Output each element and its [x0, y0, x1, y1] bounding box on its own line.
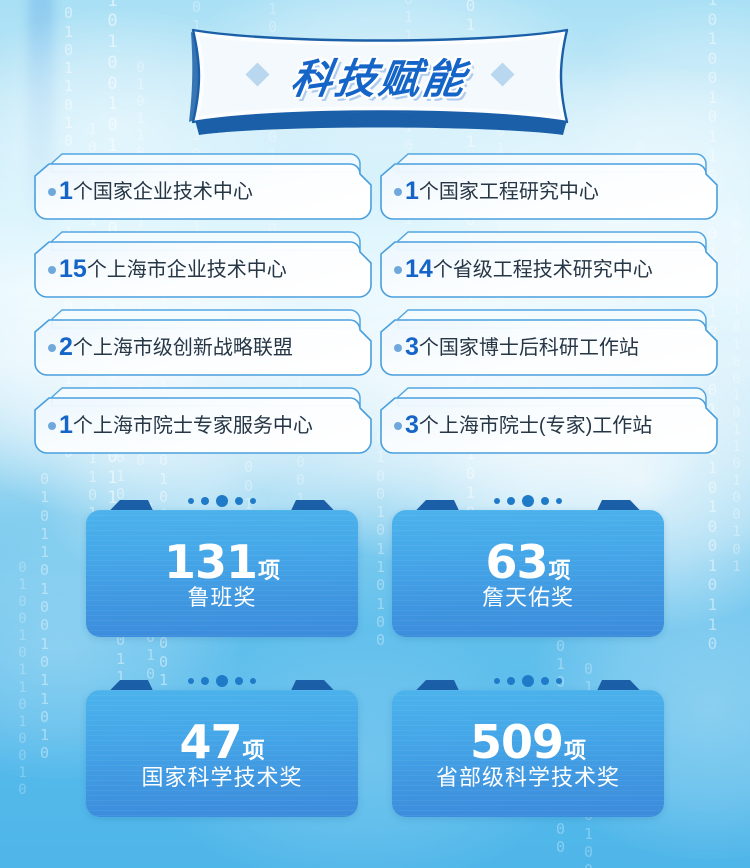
card-content: 15个上海市企业技术中心 [34, 242, 372, 298]
bullet-icon [394, 266, 402, 274]
stat-value-line: 47项 [179, 719, 264, 765]
diamond-icon-left [245, 62, 269, 86]
stat-value: 63 [485, 539, 547, 585]
bullet-icon [394, 188, 402, 196]
item-label: 个国家博士后科研工作站 [419, 338, 639, 358]
item-count: 14 [405, 257, 433, 282]
dot-icon [522, 495, 534, 507]
capability-card[interactable]: 1个国家企业技术中心 [34, 152, 372, 220]
title-banner: 科技赋能 [175, 22, 585, 140]
item-label: 个上海市级创新战略联盟 [73, 338, 293, 358]
stat-value: 47 [179, 719, 241, 765]
infographic-stage: 0 0 1 0 1 1 0 1 0 0 1 0 1 1 0 1 0 0 1 0 … [0, 0, 750, 868]
stat-value: 509 [470, 719, 563, 765]
capability-card[interactable]: 15个上海市企业技术中心 [34, 230, 372, 298]
capability-card[interactable]: 1个上海市院士专家服务中心 [34, 386, 372, 454]
stat-label: 省部级科学技术奖 [436, 767, 620, 789]
stat-card-body: 131项鲁班奖 [86, 510, 358, 637]
card-content: 3个上海市院士(专家)工作站 [380, 398, 718, 454]
item-label: 个省级工程技术研究中心 [433, 260, 653, 280]
item-label: 个上海市院士(专家)工作站 [419, 416, 652, 436]
diamond-icon-right [490, 62, 514, 86]
item-label: 个上海市企业技术中心 [87, 260, 287, 280]
stat-value: 131 [164, 539, 257, 585]
list-row: 2个上海市级创新战略联盟3个国家博士后科研工作站 [0, 308, 750, 386]
item-count: 3 [405, 413, 419, 438]
item-count: 1 [59, 413, 73, 438]
dot-icon [188, 678, 194, 684]
dot-ornament-row [392, 495, 664, 507]
card-content: 3个国家博士后科研工作站 [380, 320, 718, 376]
dot-ornament-row [86, 675, 358, 687]
dot-icon [494, 678, 500, 684]
dot-icon [188, 498, 194, 504]
stat-label: 詹天佑奖 [482, 587, 574, 609]
item-label: 个上海市院士专家服务中心 [73, 416, 313, 436]
stat-card-body: 47项国家科学技术奖 [86, 690, 358, 817]
capability-list: 1个国家企业技术中心1个国家工程研究中心15个上海市企业技术中心14个省级工程技… [0, 152, 750, 464]
list-row: 1个上海市院士专家服务中心3个上海市院士(专家)工作站 [0, 386, 750, 464]
capability-card[interactable]: 3个上海市院士(专家)工作站 [380, 386, 718, 454]
capability-card[interactable]: 14个省级工程技术研究中心 [380, 230, 718, 298]
bullet-icon [48, 422, 56, 430]
bullet-icon [48, 188, 56, 196]
card-content: 1个上海市院士专家服务中心 [34, 398, 372, 454]
list-row: 1个国家企业技术中心1个国家工程研究中心 [0, 152, 750, 230]
award-stat-card[interactable]: 47项国家科学技术奖 [86, 667, 358, 817]
dot-icon [216, 675, 228, 687]
stat-label: 鲁班奖 [187, 587, 256, 609]
award-stat-card[interactable]: 131项鲁班奖 [86, 487, 358, 637]
stat-card-body: 63项詹天佑奖 [392, 510, 664, 637]
dot-icon [235, 497, 243, 505]
card-content: 14个省级工程技术研究中心 [380, 242, 718, 298]
stat-value-line: 509项 [470, 719, 586, 765]
dot-ornament-row [86, 495, 358, 507]
dot-icon [201, 677, 209, 685]
capability-card[interactable]: 3个国家博士后科研工作站 [380, 308, 718, 376]
card-content: 2个上海市级创新战略联盟 [34, 320, 372, 376]
list-row: 15个上海市企业技术中心14个省级工程技术研究中心 [0, 230, 750, 308]
item-label: 个国家企业技术中心 [73, 182, 253, 202]
dot-icon [494, 498, 500, 504]
bullet-icon [48, 344, 56, 352]
stat-row: 131项鲁班奖63项詹天佑奖 [0, 487, 750, 667]
item-label: 个国家工程研究中心 [419, 182, 599, 202]
dot-icon [556, 498, 562, 504]
dot-icon [216, 495, 228, 507]
card-content: 1个国家企业技术中心 [34, 164, 372, 220]
dot-icon [556, 678, 562, 684]
bullet-icon [48, 266, 56, 274]
item-count: 1 [59, 179, 73, 204]
stat-value-line: 63项 [485, 539, 570, 585]
dot-icon [250, 498, 256, 504]
award-stat-card[interactable]: 63项詹天佑奖 [392, 487, 664, 637]
dot-icon [541, 497, 549, 505]
stat-value-line: 131项 [164, 539, 280, 585]
stat-unit: 项 [258, 560, 280, 582]
stat-label: 国家科学技术奖 [141, 767, 302, 789]
item-count: 1 [405, 179, 419, 204]
bullet-icon [394, 422, 402, 430]
dot-icon [507, 497, 515, 505]
stat-row: 47项国家科学技术奖509项省部级科学技术奖 [0, 667, 750, 847]
dot-icon [541, 677, 549, 685]
dot-ornament-row [392, 675, 664, 687]
dot-icon [522, 675, 534, 687]
item-count: 15 [59, 257, 87, 282]
award-stat-card[interactable]: 509项省部级科学技术奖 [392, 667, 664, 817]
bullet-icon [394, 344, 402, 352]
dot-icon [250, 678, 256, 684]
item-count: 2 [59, 335, 73, 360]
awards-stats: 131项鲁班奖63项詹天佑奖47项国家科学技术奖509项省部级科学技术奖 [0, 487, 750, 847]
card-content: 1个国家工程研究中心 [380, 164, 718, 220]
item-count: 3 [405, 335, 419, 360]
capability-card[interactable]: 2个上海市级创新战略联盟 [34, 308, 372, 376]
page-title: 科技赋能 [287, 45, 473, 105]
dot-icon [235, 677, 243, 685]
dot-icon [201, 497, 209, 505]
stat-card-body: 509项省部级科学技术奖 [392, 690, 664, 817]
stat-unit: 项 [549, 560, 571, 582]
stat-unit: 项 [243, 740, 265, 762]
stat-unit: 项 [564, 740, 586, 762]
capability-card[interactable]: 1个国家工程研究中心 [380, 152, 718, 220]
dot-icon [507, 677, 515, 685]
